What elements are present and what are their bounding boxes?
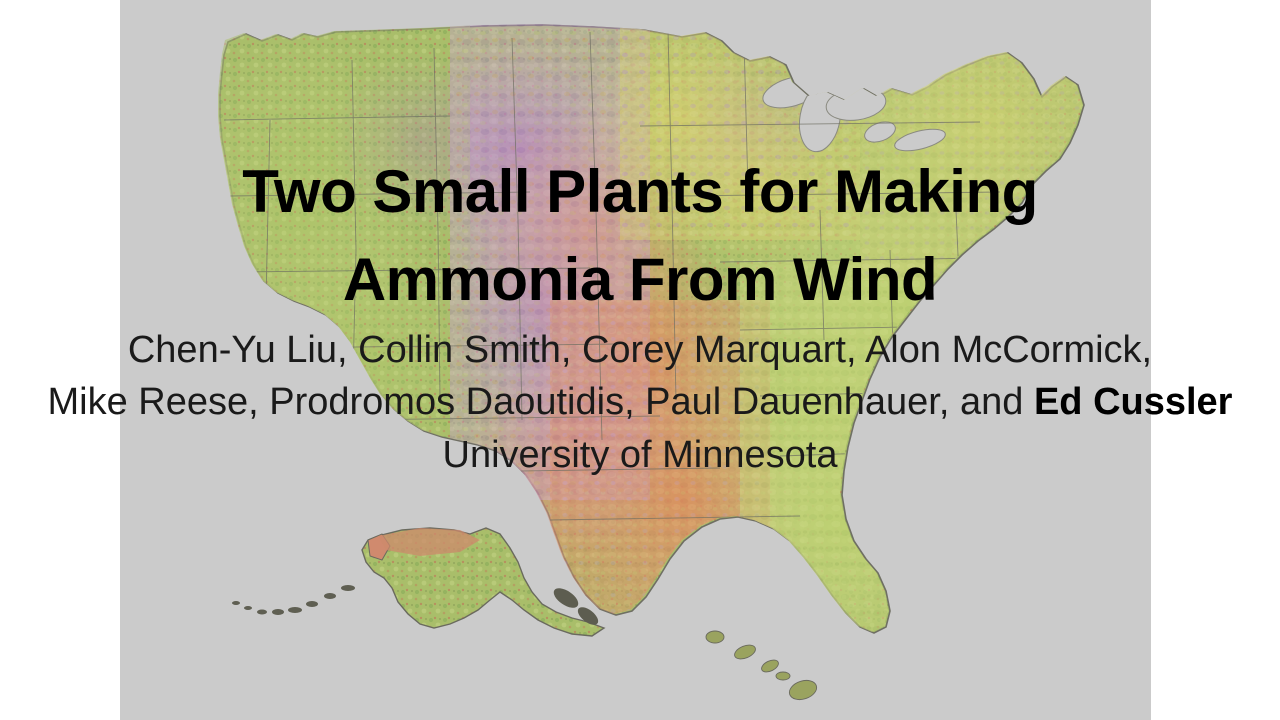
- slide-canvas: [120, 0, 1151, 720]
- slide-root: Two Small Plants for Making Ammonia From…: [0, 0, 1280, 720]
- us-map-background-image: [120, 0, 1151, 720]
